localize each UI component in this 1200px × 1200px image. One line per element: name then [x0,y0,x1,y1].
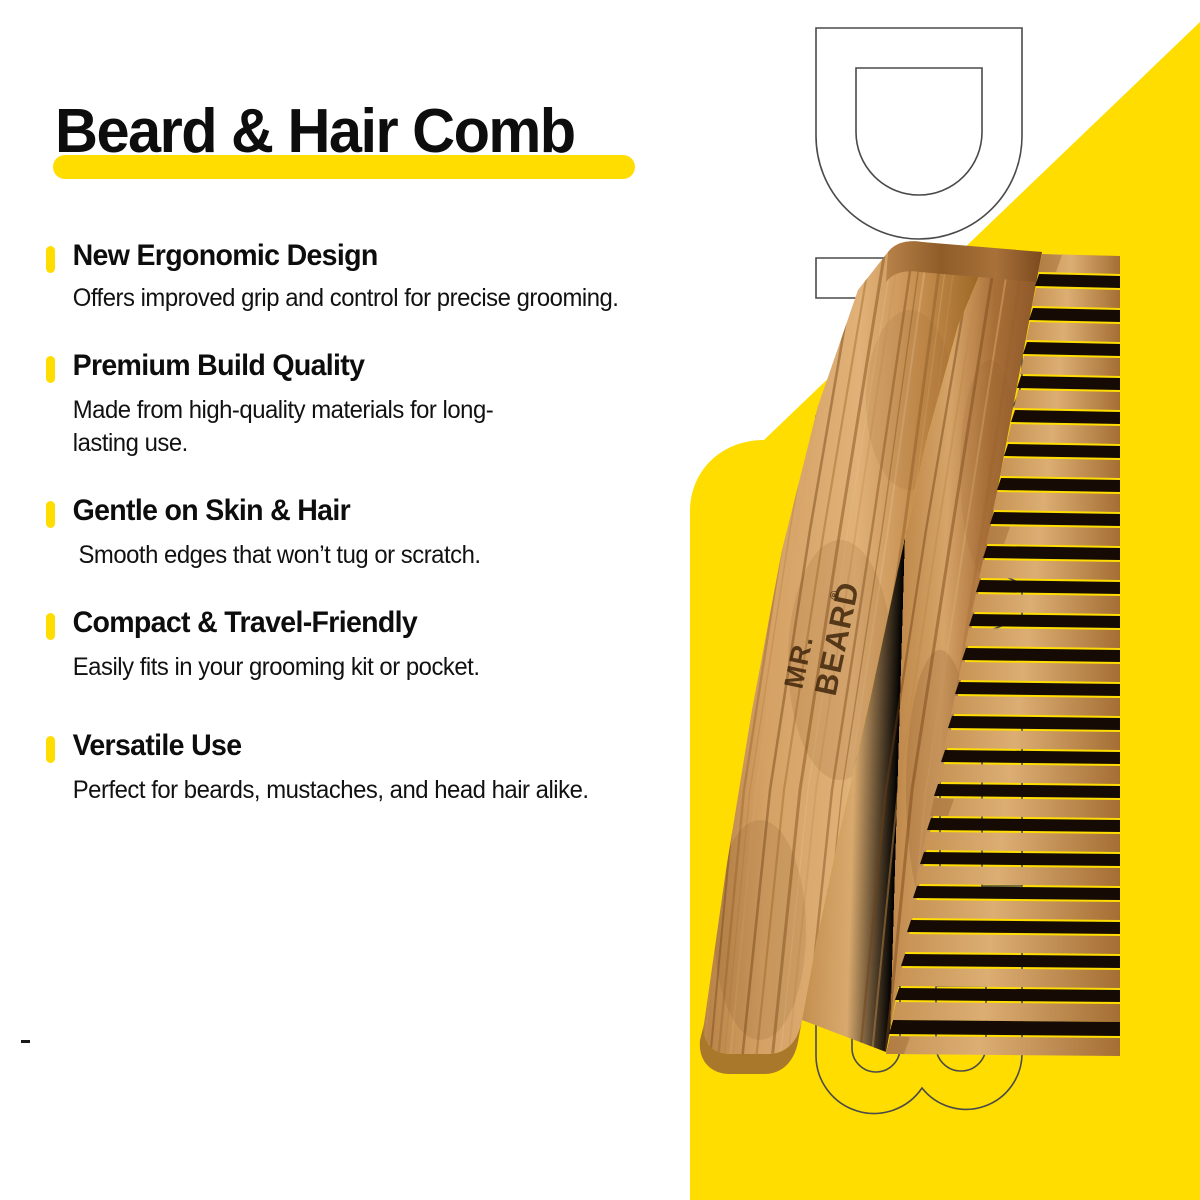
feature-description: Perfect for beards, mustaches, and head … [46,774,589,807]
feature-title: Premium Build Quality [46,350,529,382]
product-image-wooden-comb: MR. BEARD ® [690,230,1120,1090]
title-underline-bar [53,155,635,179]
feature-description: Made from high-quality materials for lon… [46,394,531,459]
feature-title: Compact & Travel-Friendly [46,607,477,639]
feature-item-gentle-on-skin-and-hair: Gentle on Skin & Hair Smooth edges that … [46,495,501,572]
feature-title: Versatile Use [46,730,586,762]
feature-item-versatile-use: Versatile Use Perfect for beards, mustac… [46,730,614,807]
feature-item-compact-and-travel-friendly: Compact & Travel-Friendly Easily fits in… [46,607,500,684]
corner-dash-mark [21,1040,30,1043]
feature-item-premium-build-quality: Premium Build Quality Made from high-qua… [46,350,554,459]
feature-description: Offers improved grip and control for pre… [46,282,618,315]
feature-description: Smooth edges that won’t tug or scratch. [46,539,481,572]
feature-description: Easily fits in your grooming kit or pock… [46,651,479,684]
feature-title: New Ergonomic Design [46,240,615,272]
feature-item-new-ergonomic-design: New Ergonomic Design Offers improved gri… [46,240,645,315]
page-title: Beard & Hair Comb [55,99,575,164]
feature-title: Gentle on Skin & Hair [46,495,478,527]
poster-canvas: Beard & Hair Comb New Ergonomic Design O… [0,0,1200,1200]
